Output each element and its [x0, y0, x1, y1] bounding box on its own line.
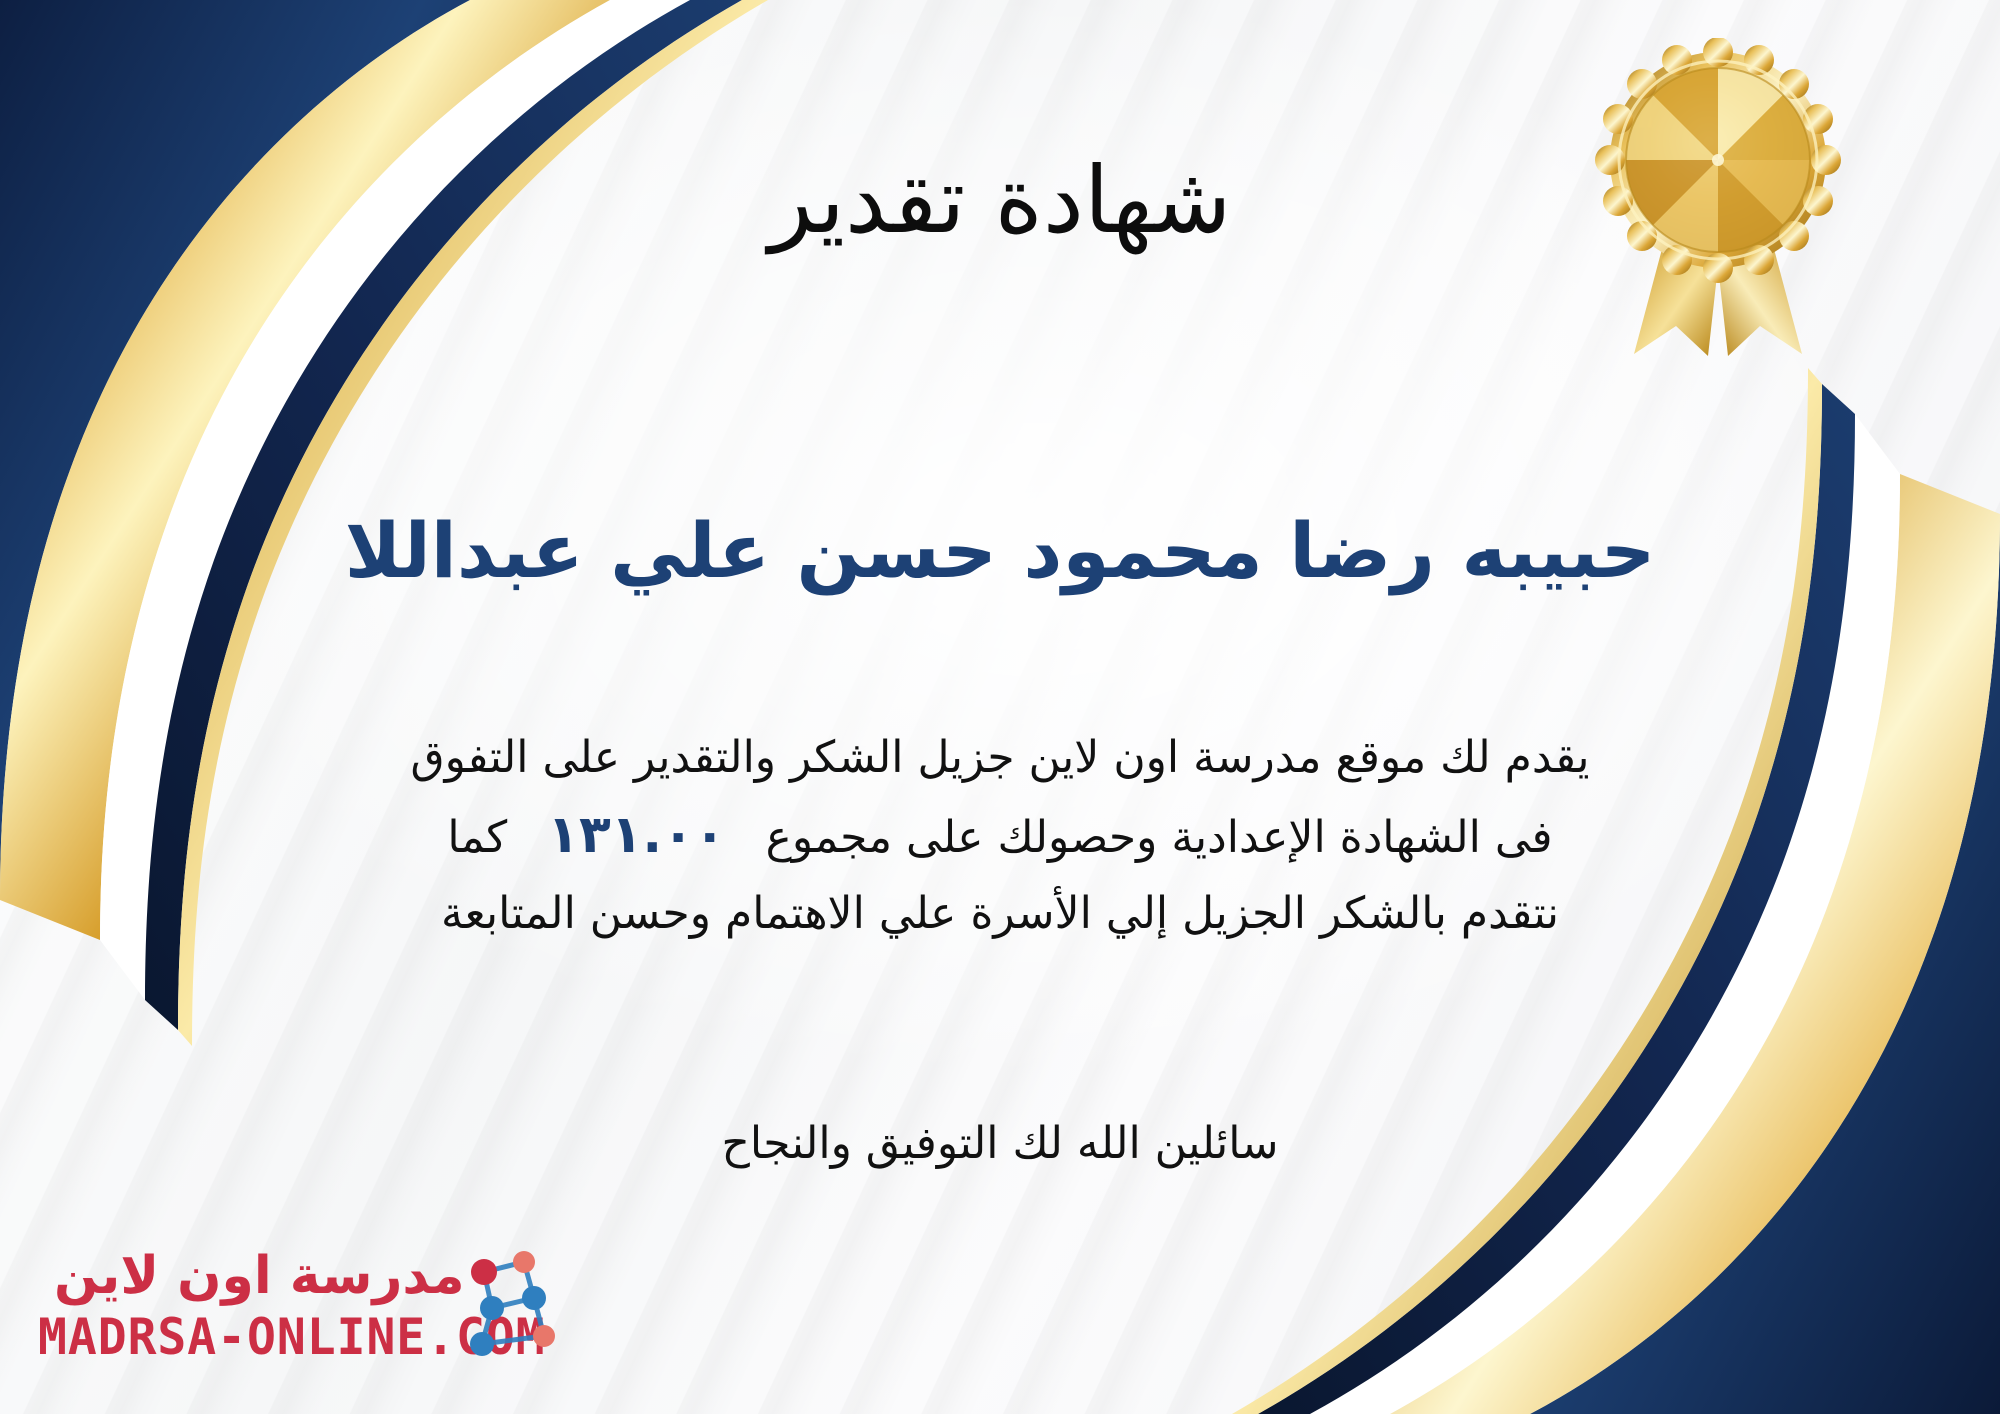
brand-logo[interactable]: مدرسة اون لاين MADRSA-ONLINE.COM [28, 1242, 588, 1392]
brand-name-arabic: مدرسة اون لاين [54, 1246, 465, 1306]
network-nodes-icon [448, 1246, 578, 1366]
body-text: يقدم لك موقع مدرسة اون لاين جزيل الشكر و… [150, 722, 1850, 949]
closing-text: سائلين الله لك التوفيق والنجاح [0, 1118, 2000, 1169]
body-line-2-after: كما [447, 812, 507, 863]
body-line-2-before: فى الشهادة الإعدادية وحصولك على مجموع [766, 812, 1553, 863]
body-line-3: نتقدم بالشكر الجزيل إلي الأسرة علي الاهت… [150, 878, 1850, 949]
page-title: شهادة تقدير [0, 148, 2000, 254]
grade-value: ١٣١.٠٠ [521, 805, 751, 865]
body-line-2: فى الشهادة الإعدادية وحصولك على مجموع ١٣… [150, 793, 1850, 877]
recipient-name: حبيبه رضا محمود حسن علي عبداللا [0, 505, 2000, 596]
certificate: شهادة تقدير حبيبه رضا محمود حسن علي عبدا… [0, 0, 2000, 1414]
body-line-1: يقدم لك موقع مدرسة اون لاين جزيل الشكر و… [150, 722, 1850, 793]
